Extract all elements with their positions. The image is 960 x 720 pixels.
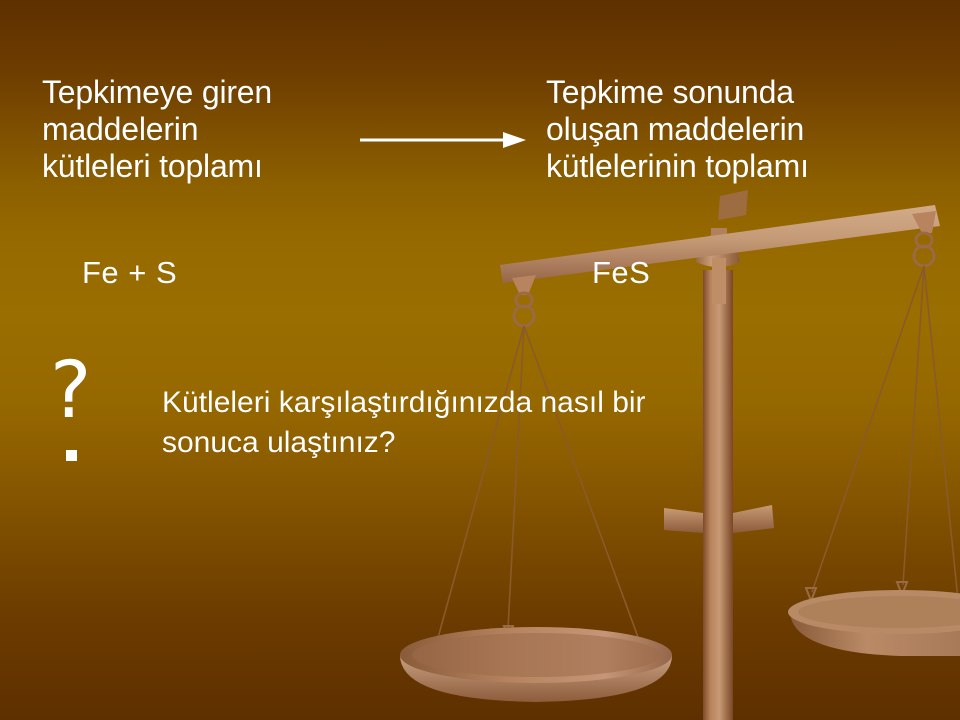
- scale-left-hanger: [431, 275, 646, 657]
- bullet-square-icon: [66, 450, 77, 461]
- scale-beam: [500, 205, 940, 283]
- products-formula: FeS: [592, 255, 650, 291]
- question-mark-bullet-icon: ?: [50, 352, 91, 430]
- scale-right-hanger: [806, 211, 958, 601]
- products-label: Tepkime sonunda oluşan maddelerin kütlel…: [546, 74, 809, 185]
- scale-left-pan: [400, 627, 672, 702]
- right-arrow-icon: [358, 128, 528, 152]
- question-text: Kütleleri karşılaştırdığınızda nasıl bir…: [162, 383, 646, 463]
- scale-upper-support: [718, 190, 748, 220]
- scale-right-pan: [788, 590, 960, 656]
- scale-pivot: [696, 228, 740, 304]
- presentation-slide: Tepkimeye giren maddelerin kütleleri top…: [0, 0, 960, 720]
- scale-column: [664, 270, 774, 720]
- reactants-formula: Fe + S: [82, 255, 177, 291]
- reactants-label: Tepkimeye giren maddelerin kütleleri top…: [42, 74, 272, 185]
